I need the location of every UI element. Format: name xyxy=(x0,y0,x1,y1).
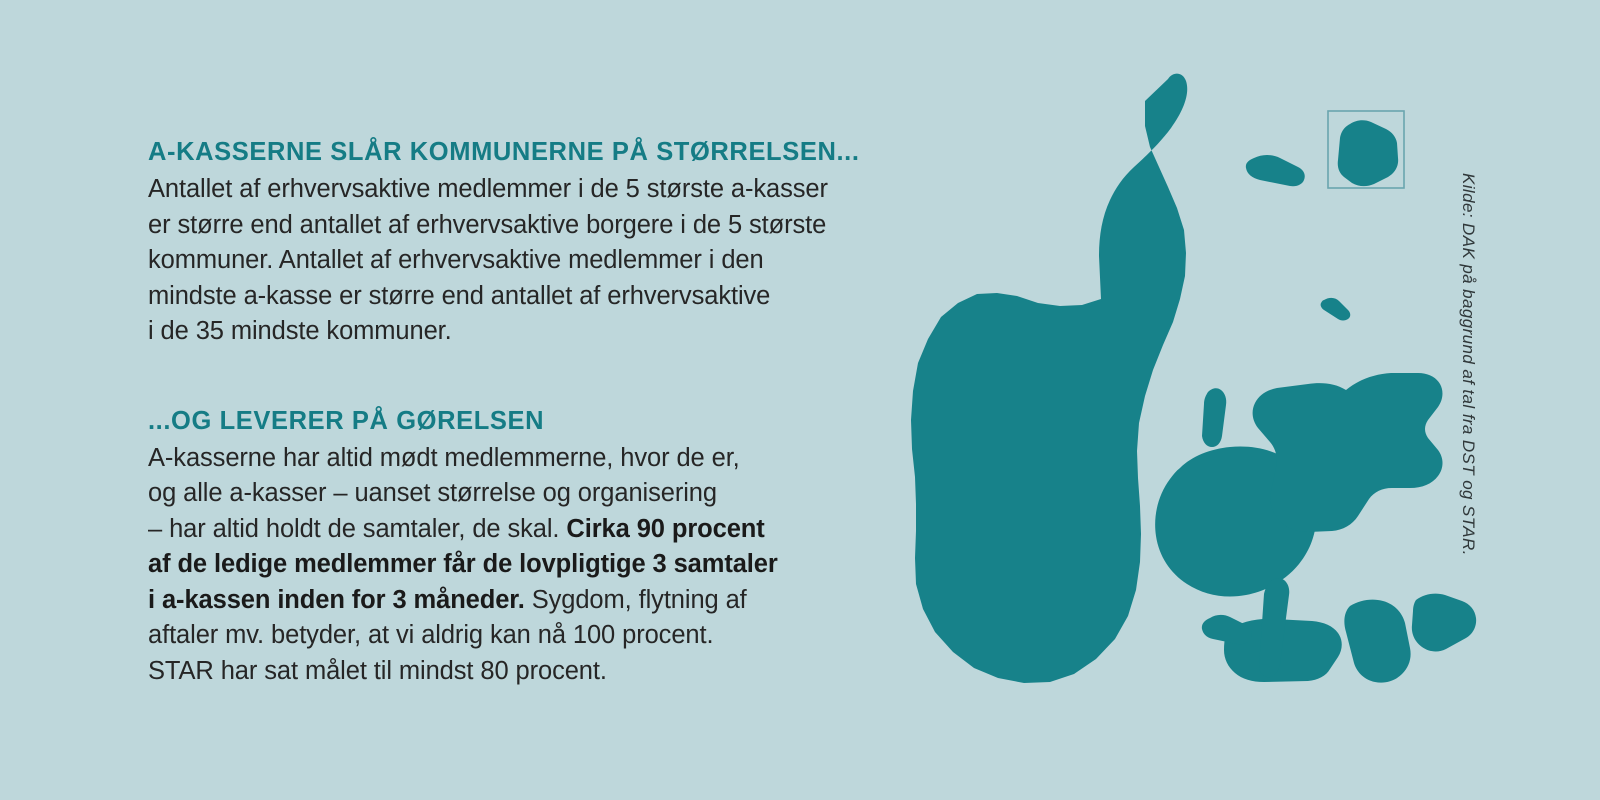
body-line: kommuner. Antallet af erhvervsaktive med… xyxy=(148,243,908,279)
body-line: i a-kassen inden for 3 måneder. Sygdom, … xyxy=(148,583,908,619)
anholt-island xyxy=(1321,298,1351,321)
jutland xyxy=(911,74,1187,683)
section-size-heading: A-KASSERNE SLÅR KOMMUNERNE PÅ STØRRELSEN… xyxy=(148,137,908,167)
body-line: STAR har sat målet til mindst 80 procent… xyxy=(148,654,908,690)
bornholm-inset xyxy=(1328,111,1404,188)
body-line: aftaler mv. betyder, at vi aldrig kan nå… xyxy=(148,618,908,654)
zealand-island xyxy=(1253,373,1443,532)
body-line: mindste a-kasse er større end antallet a… xyxy=(148,279,908,315)
infographic-poster: A-KASSERNE SLÅR KOMMUNERNE PÅ STØRRELSEN… xyxy=(0,0,1600,800)
body-line-bold: i a-kassen inden for 3 måneder. xyxy=(148,586,525,614)
body-line-normal: Sygdom, flytning af xyxy=(525,586,747,614)
text-column: A-KASSERNE SLÅR KOMMUNERNE PÅ STØRRELSEN… xyxy=(148,137,908,689)
body-line: af de ledige medlemmer får de lovpligtig… xyxy=(148,547,908,583)
falster-island xyxy=(1344,600,1410,683)
section-size: A-KASSERNE SLÅR KOMMUNERNE PÅ STØRRELSEN… xyxy=(148,137,908,350)
body-line-bold: af de ledige medlemmer får de lovpligtig… xyxy=(148,550,778,578)
body-line: Antallet af erhvervsaktive medlemmer i d… xyxy=(148,172,908,208)
section-size-body: Antallet af erhvervsaktive medlemmer i d… xyxy=(148,172,908,350)
body-line-bold: Cirka 90 procent xyxy=(566,515,764,543)
samso-island xyxy=(1202,388,1226,447)
body-line-normal: – har altid holdt de samtaler, de skal. xyxy=(148,515,566,543)
body-line: i de 35 mindste kommuner. xyxy=(148,314,908,350)
body-line: – har altid holdt de samtaler, de skal. … xyxy=(148,512,908,548)
denmark-map xyxy=(880,70,1480,710)
aero-island xyxy=(1202,615,1252,644)
mon-island xyxy=(1412,594,1476,652)
section-delivery: ...OG LEVERER PÅ GØRELSEN A-kasserne har… xyxy=(148,406,908,690)
section-delivery-heading: ...OG LEVERER PÅ GØRELSEN xyxy=(148,406,908,436)
section-delivery-body: A-kasserne har altid mødt medlemmerne, h… xyxy=(148,441,908,690)
laeso-island xyxy=(1246,155,1305,186)
body-line: er større end antallet af erhvervsaktive… xyxy=(148,208,908,244)
bornholm-island xyxy=(1338,120,1398,186)
body-line: og alle a-kasser – uanset størrelse og o… xyxy=(148,476,908,512)
body-line: A-kasserne har altid mødt medlemmerne, h… xyxy=(148,441,908,477)
